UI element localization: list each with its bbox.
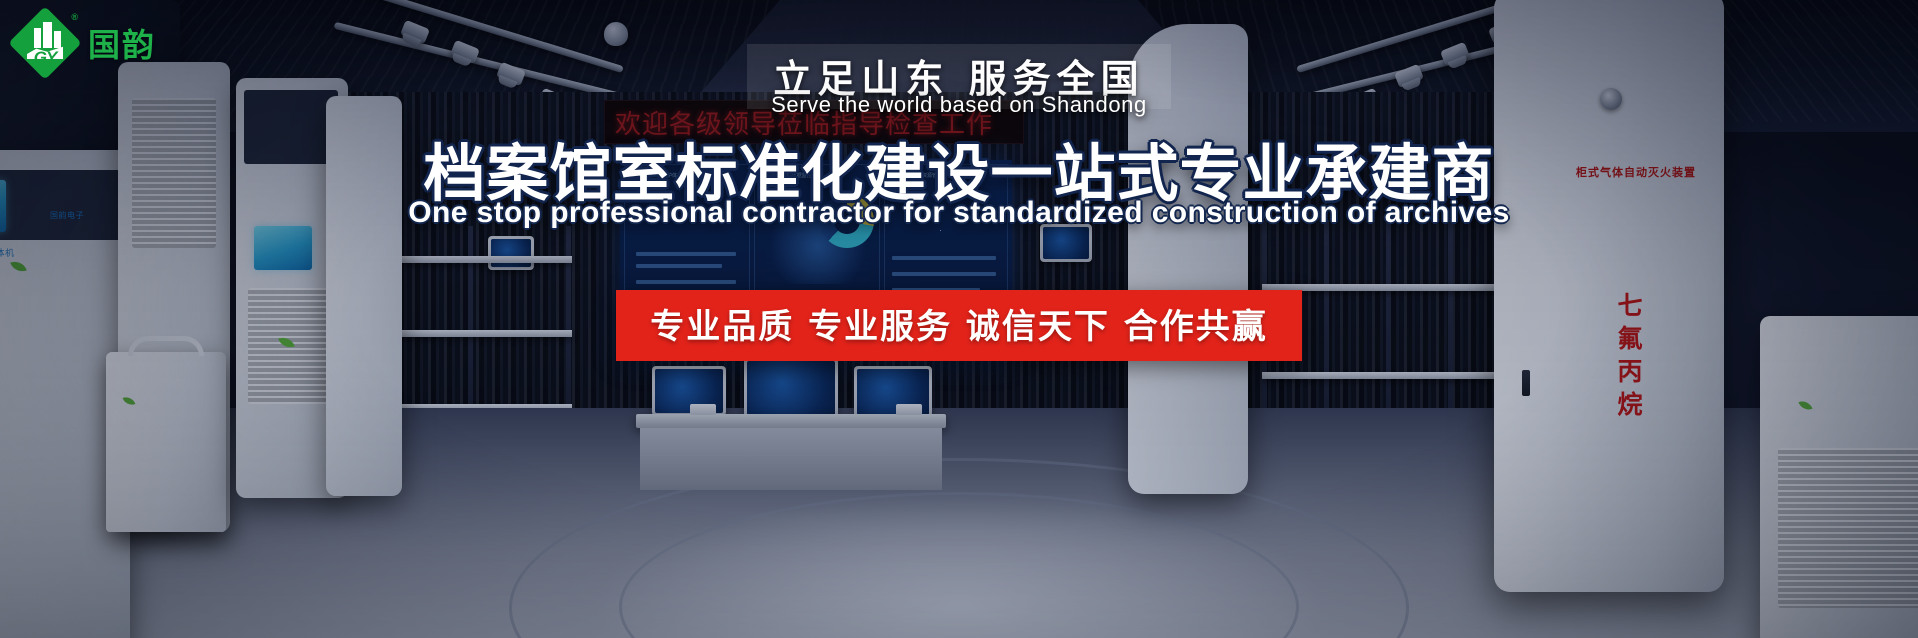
slogan-row: 专业品质 专业服务 诚信天下 合作共赢 (0, 290, 1918, 361)
registered-mark-icon: ® (71, 12, 78, 22)
slogan-banner[interactable]: 专业品质 专业服务 诚信天下 合作共赢 (616, 290, 1302, 361)
hero-banner: 欢迎各级领导莅临指导检查工作 档案安全防护体系 智慧档案·数据监控平台 档案信息… (0, 0, 1918, 638)
subtitle-en: One stop professional contractor for sta… (0, 196, 1918, 230)
text-overlay: GY ® 国韵 立足山东 服务全国 Serve the world based … (0, 0, 1918, 638)
eyebrow-en: Serve the world based on Shandong (0, 92, 1918, 118)
